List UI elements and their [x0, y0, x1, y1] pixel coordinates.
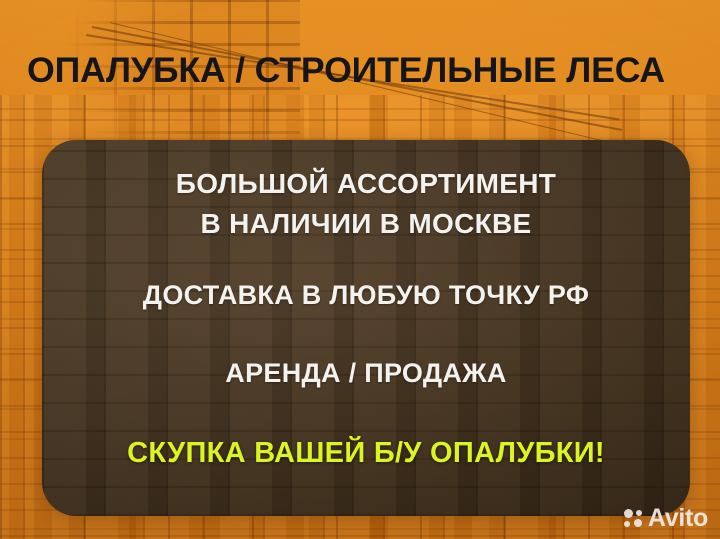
offer-list: БОЛЬШОЙ АССОРТИМЕНТ В НАЛИЧИИ В МОСКВЕ Д… [42, 140, 690, 516]
avito-dots-icon [624, 509, 644, 528]
offer-line-delivery: ДОСТАВКА В ЛЮБУЮ ТОЧКУ РФ [143, 280, 589, 311]
offer-line-in-stock-moscow: В НАЛИЧИИ В МОСКВЕ [201, 208, 532, 240]
offer-line-rent-sale: АРЕНДА / ПРОДАЖА [225, 358, 506, 389]
avito-watermark: Avito [624, 506, 708, 531]
offer-panel: БОЛЬШОЙ АССОРТИМЕНТ В НАЛИЧИИ В МОСКВЕ Д… [42, 140, 690, 516]
offer-line-assortment: БОЛЬШОЙ АССОРТИМЕНТ [176, 168, 556, 200]
headline-title: ОПАЛУБКА / СТРОИТЕЛЬНЫЕ ЛЕСА [27, 51, 665, 91]
offer-line-buyback-highlight: СКУПКА ВАШЕЙ Б/У ОПАЛУБКИ! [127, 437, 605, 470]
avito-wordmark: Avito [648, 506, 708, 531]
avito-listing-image: ОПАЛУБКА / СТРОИТЕЛЬНЫЕ ЛЕСА БОЛЬШОЙ АСС… [0, 0, 720, 539]
